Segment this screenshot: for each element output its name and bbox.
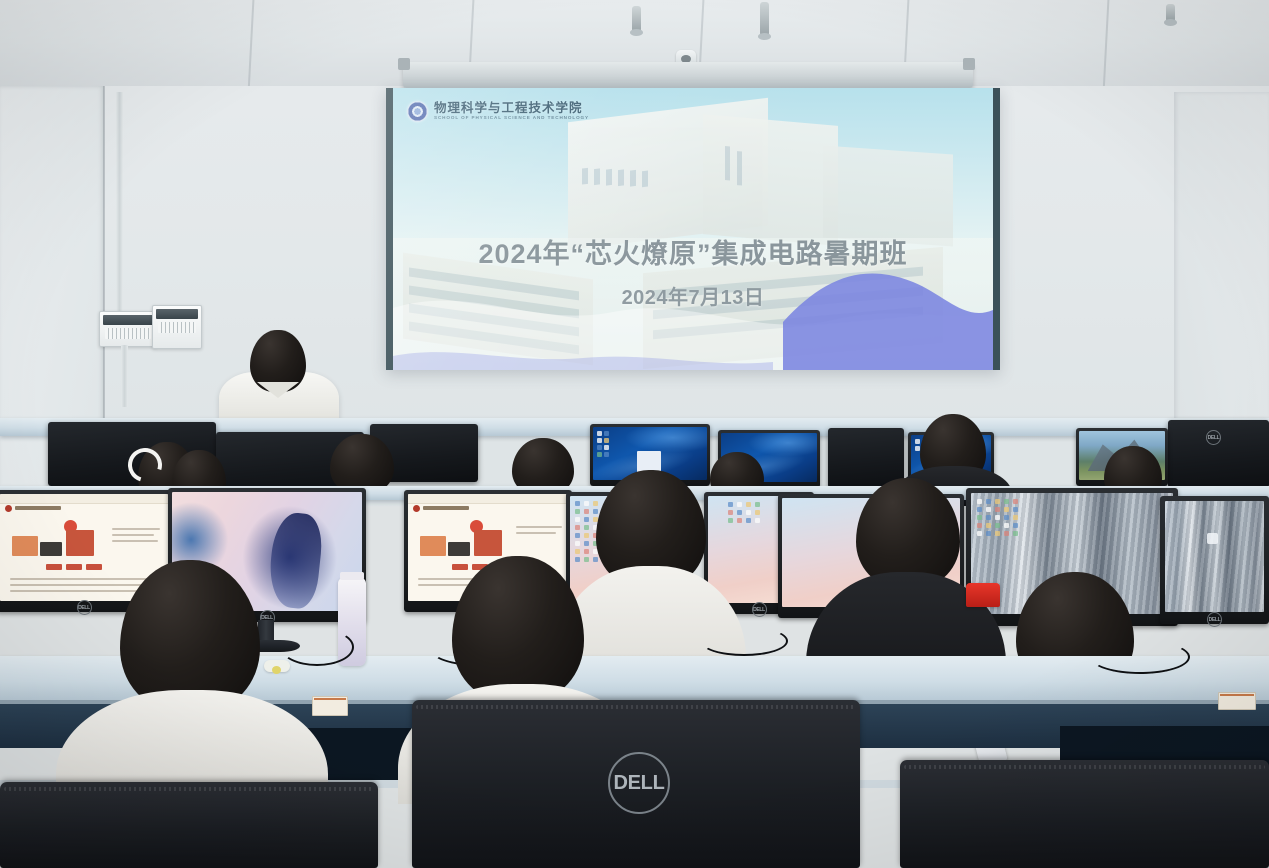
roller-bracket: [963, 58, 975, 70]
desktop-icon-grid: [597, 431, 609, 457]
slide-logo: 物理科学与工程技术学院 SCHOOL OF PHYSICAL SCIENCE A…: [407, 101, 589, 122]
slide-date: 2024年7月13日: [393, 281, 993, 310]
presentation-slide: 物理科学与工程技术学院 SCHOOL OF PHYSICAL SCIENCE A…: [393, 88, 993, 370]
sprinkler-head-icon: [760, 2, 769, 36]
site-illustration: [418, 520, 510, 558]
student-head: [330, 434, 394, 494]
slide-logo-chinese: 物理科学与工程技术学院: [434, 102, 589, 115]
dell-logo-icon: DELL: [1206, 430, 1221, 445]
desktop-icon-grid: [728, 502, 761, 523]
monitor-back: DELL: [1168, 420, 1269, 488]
wallpaper-rocky-cliff: [1165, 501, 1264, 612]
site-logo-icon: [413, 505, 420, 512]
site-illustration: [10, 520, 102, 558]
roller-bracket: [398, 58, 410, 70]
monitor-cable: [1090, 640, 1190, 674]
conduit-drop: [121, 345, 128, 407]
red-bottle-cap[interactable]: [966, 583, 1000, 607]
slide-logo-english: SCHOOL OF PHYSICAL SCIENCE AND TECHNOLOG…: [434, 116, 589, 121]
desk-label-sticker: [312, 696, 348, 716]
slide-title: 2024年“芯火燎原”集成电路暑期班: [393, 232, 993, 271]
desk-small-item: [272, 666, 281, 674]
chair-back[interactable]: [0, 782, 378, 868]
sprinkler-head-icon: [632, 6, 641, 32]
classroom-photo-scene: 物理科学与工程技术学院 SCHOOL OF PHYSICAL SCIENCE A…: [0, 0, 1269, 868]
dell-logo-icon: DELL: [77, 600, 92, 615]
school-emblem-icon: [407, 101, 428, 122]
wall-corner-edge: [103, 86, 105, 466]
dell-logo-icon: DELL: [1207, 612, 1222, 627]
screen-edge-right: [993, 88, 1000, 370]
site-logo-icon: [5, 505, 12, 512]
screen-edge-left: [386, 88, 393, 370]
slide-building-second: [703, 114, 838, 246]
electrical-conduit: [116, 92, 123, 342]
electrical-panel-right: [152, 305, 202, 349]
projection-screen: 物理科学与工程技术学院 SCHOOL OF PHYSICAL SCIENCE A…: [386, 88, 1000, 370]
dell-logo-icon: DELL: [608, 752, 670, 814]
sprinkler-head-icon: [1166, 4, 1175, 22]
chair-back[interactable]: [900, 760, 1269, 868]
desk-label-sticker: [1218, 692, 1256, 710]
monitor-cable: [280, 628, 354, 666]
monitor-cable: [700, 626, 788, 656]
electrical-panel-left: [99, 311, 157, 347]
monitor-cliff-right: DELL: [1160, 496, 1269, 624]
chair-back[interactable]: DELL: [412, 700, 860, 868]
dell-logo-icon: DELL: [752, 602, 767, 617]
desktop-icon-grid: [977, 499, 1019, 536]
projector-screen-roller: [403, 62, 973, 88]
